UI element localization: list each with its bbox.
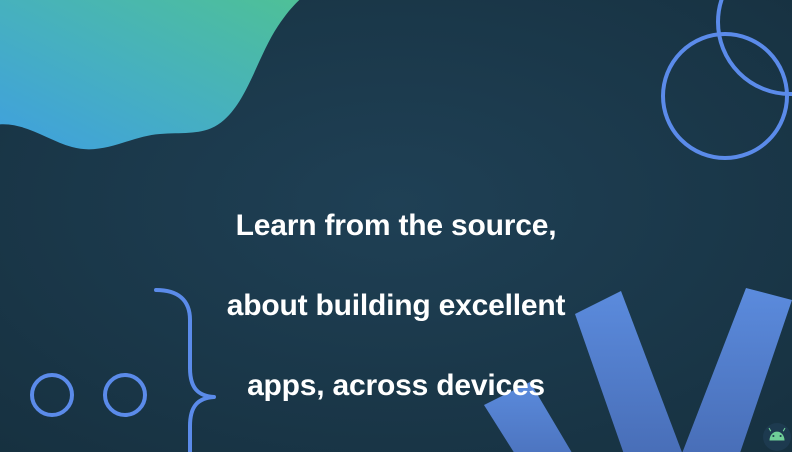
headline-line-1: Learn from the source, (0, 206, 792, 246)
headline-text: Learn from the source, about building ex… (0, 166, 792, 446)
presentation-slide: Learn from the source, about building ex… (0, 0, 792, 452)
headline-line-2: about building excellent (0, 286, 792, 326)
headline-line-3: apps, across devices (0, 366, 792, 406)
